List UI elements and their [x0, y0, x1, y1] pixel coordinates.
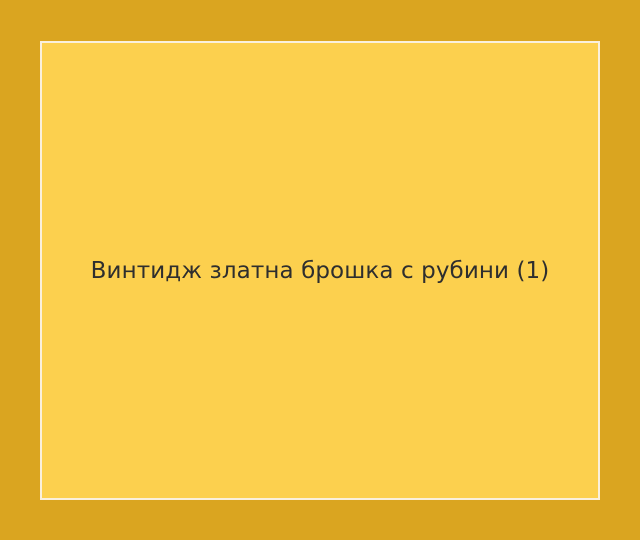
image-placeholder-frame: Винтидж златна брошка с рубини (1) [40, 41, 600, 500]
placeholder-canvas: Винтидж златна брошка с рубини (1) [0, 0, 640, 540]
image-caption-label: Винтидж златна брошка с рубини (1) [42, 256, 598, 286]
